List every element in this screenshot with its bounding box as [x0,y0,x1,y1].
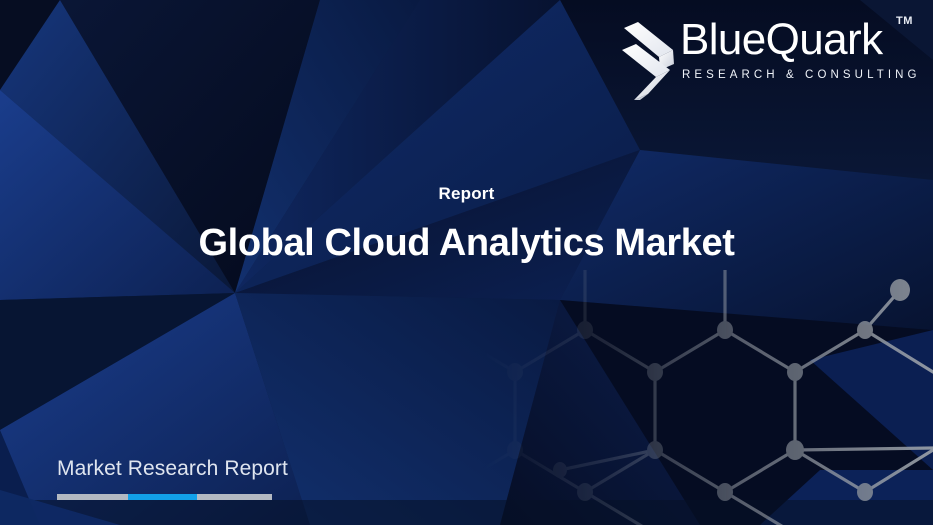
rule-segment-right [197,494,272,500]
rule-segment-left [57,494,128,500]
brand-logo: BlueQuark RESEARCH & CONSULTING [618,14,918,106]
cover-footer: Market Research Report [57,455,288,500]
brand-name-part-2: Quark [766,15,883,64]
report-cover: BlueQuark RESEARCH & CONSULTING TM Repor… [0,0,933,525]
report-kicker: Report [0,183,933,205]
bluequark-ribbon-mark [618,20,680,102]
brand-tagline: RESEARCH & CONSULTING [682,67,920,83]
footer-accent-rule [57,494,272,500]
footer-label: Market Research Report [57,455,288,483]
report-title: Global Cloud Analytics Market [0,220,933,266]
brand-name-part-1: Blue [680,15,766,64]
rule-segment-accent [128,494,197,500]
trademark-symbol: TM [896,15,913,27]
brand-wordmark: BlueQuark [680,14,920,66]
cover-title-block: Report Global Cloud Analytics Market [0,183,933,266]
